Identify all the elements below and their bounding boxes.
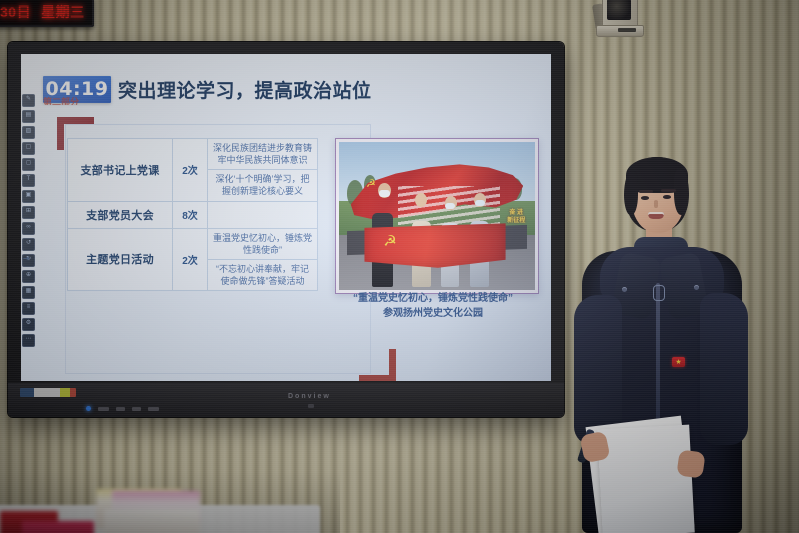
image-vignette (0, 0, 799, 533)
photo-scene: 30日 星期三 04:19 第二部分 突出理论学习，提高政治站位 (0, 0, 799, 533)
